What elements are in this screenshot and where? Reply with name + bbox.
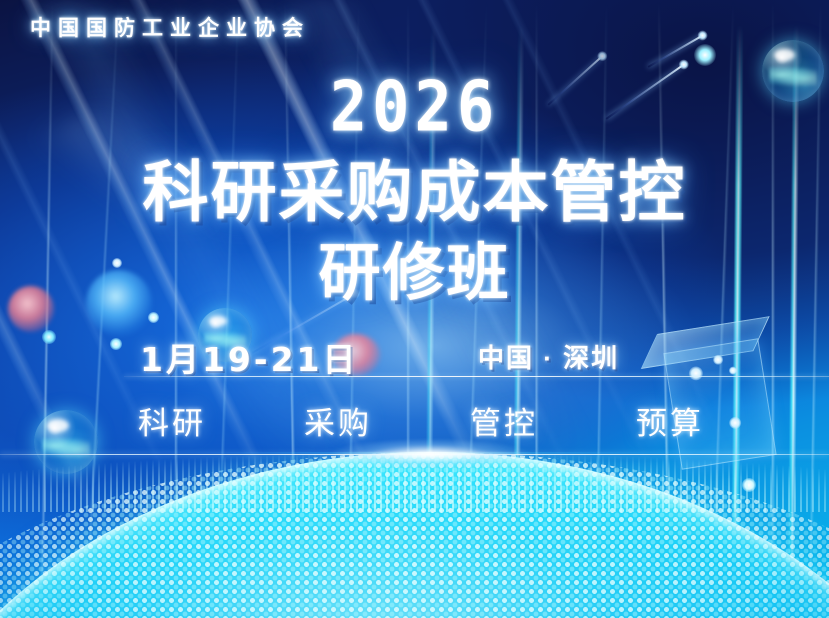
keyword-item: 管控: [470, 398, 538, 443]
year-heading: 2026: [0, 66, 829, 148]
organization-name: 中国国防工业企业协会: [30, 12, 310, 42]
title-line-2: 研修班: [0, 222, 829, 312]
poster-content: 中国国防工业企业协会 2026 科研采购成本管控 研修班 1月19-21日 中国…: [0, 0, 829, 618]
keyword-list: 科研 采购 管控 预算: [138, 398, 704, 443]
title-line-1: 科研采购成本管控: [0, 139, 829, 235]
poster-canvas: 中国国防工业企业协会 2026 科研采购成本管控 研修班 1月19-21日 中国…: [0, 0, 829, 618]
event-location: 中国 · 深圳: [478, 338, 619, 375]
keyword-item: 预算: [636, 398, 704, 443]
keyword-item: 科研: [138, 398, 206, 443]
event-date: 1月19-21日: [140, 333, 359, 381]
keyword-item: 采购: [304, 398, 372, 443]
